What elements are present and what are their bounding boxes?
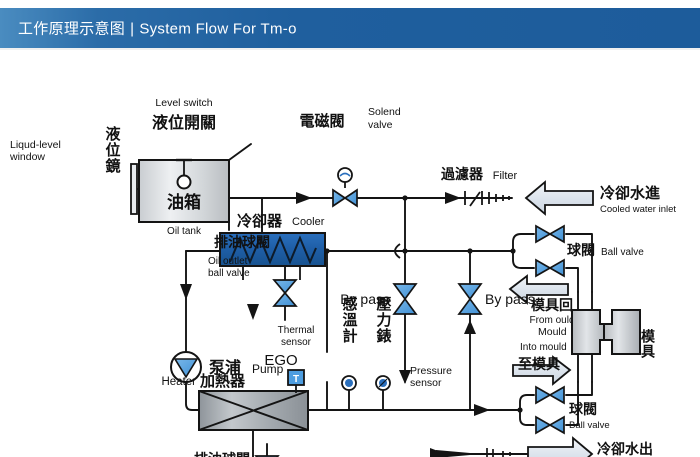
valve-triangle-icon xyxy=(274,280,296,293)
valve-triangle-icon xyxy=(274,293,296,306)
flow-arrow-icon xyxy=(445,192,461,204)
valve-triangle-icon xyxy=(550,226,564,242)
ball-valve-bottom-upper xyxy=(536,387,564,403)
bypass-valve-right xyxy=(459,284,481,314)
bypass-valve-left xyxy=(394,284,416,314)
junction-dot xyxy=(510,248,515,253)
pipe-bv-top-loop xyxy=(513,234,534,251)
ego-thermostat: T xyxy=(288,370,304,393)
thermal-sensor-label-en-1: Thermal xyxy=(278,325,315,336)
pipe-bv-bottom-right xyxy=(566,382,592,395)
valve-triangle-icon xyxy=(550,387,564,403)
pressure-sensor-label-en-1: Pressure xyxy=(410,365,452,377)
solenoid-valve-label-en-2: valve xyxy=(368,119,393,131)
thermal-gauge-label-cn: 感溫計 xyxy=(341,295,358,344)
mould-label-en: Mould xyxy=(538,326,567,338)
solenoid-valve xyxy=(333,168,357,206)
solenoid-valve-label-cn: 電磁閥 xyxy=(299,112,344,130)
liquid-level-window-label-en-2: window xyxy=(9,151,45,163)
system-flow-diagram: Level switch 液位開關 油箱 Oil tank Liqud-leve… xyxy=(0,52,700,457)
flow-arrow-icon xyxy=(180,284,192,300)
oil-outlet-valve-upper-label-cn: 排油球閥 xyxy=(214,234,270,250)
flow-arrow-icon xyxy=(296,192,312,204)
ego-label: EGO xyxy=(264,352,297,369)
cooled-water-inlet-arrow xyxy=(526,182,593,214)
liquid-level-window-label-en-1: Liqud-level xyxy=(10,139,61,151)
valve-triangle-icon xyxy=(550,417,564,433)
oil-outlet-valve-upper-label-en-2: ball valve xyxy=(208,268,250,279)
liquid-level-window-glass xyxy=(131,164,137,214)
into-mould-label-en: Into mould xyxy=(520,342,567,353)
from-mould-label-en: From ould xyxy=(529,315,574,326)
heater-label-cn: 加熱器 xyxy=(199,372,246,390)
pressure-gauge xyxy=(376,376,390,390)
mould-left-half-icon xyxy=(572,310,608,354)
pipe-bv-bottom-loop2 xyxy=(520,410,534,425)
oil-outlet-valve-upper-label-en-1: Oil outlet xyxy=(208,256,248,267)
flow-arrow-icon xyxy=(247,304,259,320)
cooler-label-cn: 冷卻器 xyxy=(237,212,283,230)
oil-outlet-ball-valve-upper xyxy=(274,280,296,306)
taper-icon xyxy=(436,450,470,457)
from-mould-label-cn: 模具回 xyxy=(531,297,573,313)
valve-triangle-icon xyxy=(536,226,550,242)
junction-dot xyxy=(402,248,407,253)
valve-triangle-icon xyxy=(345,190,357,206)
valve-triangle-icon xyxy=(536,260,550,276)
valve-triangle-icon xyxy=(394,299,416,314)
cooled-water-outlet-label-cn: 冷卻水出 xyxy=(597,441,653,457)
level-switch-label-en: Level switch xyxy=(155,97,212,109)
solenoid-valve-label-en-1: Solend xyxy=(368,106,401,118)
level-switch-label-cn: 液位開關 xyxy=(152,113,216,132)
flow-arrow-icon xyxy=(474,404,490,416)
mould-right-half-icon xyxy=(604,310,640,354)
cooler-label-en: Cooler xyxy=(292,216,325,228)
ball-valve-top-label-en: Ball valve xyxy=(601,247,644,258)
thermal-gauge xyxy=(342,376,356,390)
ball-valve-top-lower xyxy=(536,260,564,276)
pipe-heater-drain xyxy=(253,430,430,457)
junction-dot xyxy=(517,407,522,412)
pipe-heater-out xyxy=(308,382,327,410)
ball-valve-bottom-lower xyxy=(536,417,564,433)
thermal-sensor-label-en-2: sensor xyxy=(281,337,312,348)
junction-dot xyxy=(467,248,472,253)
page-title-chinese: 工作原理示意图 xyxy=(18,21,125,38)
valve-triangle-icon xyxy=(333,190,345,206)
mould xyxy=(572,310,640,354)
ego-symbol: T xyxy=(293,374,299,385)
oil-tank xyxy=(131,160,229,222)
page-title-separator: | xyxy=(125,21,139,38)
valve-triangle-icon xyxy=(536,417,550,433)
pipe-bv-bottom-loop xyxy=(520,395,534,410)
oil-outlet-valve-lower-label-cn: 排油球閥 xyxy=(194,451,250,457)
heater-label-en: Heater xyxy=(161,376,196,388)
page-title-english: System Flow For Tm-o xyxy=(139,21,296,38)
valve-triangle-icon xyxy=(394,284,416,299)
pressure-gauge-label-cn: 壓力錶 xyxy=(375,296,393,344)
page-title: 工作原理示意图|System Flow For Tm-o xyxy=(18,18,297,39)
bypass-right-label: By pass xyxy=(485,291,535,307)
oil-tank-label-cn: 油箱 xyxy=(167,192,201,212)
cooled-water-inlet-label-en: Cooled water inlet xyxy=(600,204,676,215)
flow-arrow-icon xyxy=(464,320,476,334)
valve-triangle-icon xyxy=(459,284,481,299)
ball-valve-bottom-label-en: Ball valve xyxy=(569,420,610,431)
valve-triangle-icon xyxy=(550,260,564,276)
ball-valve-top-label-cn: 球閥 xyxy=(567,242,595,258)
heater xyxy=(199,391,308,430)
page-header-bar: 工作原理示意图|System Flow For Tm-o xyxy=(0,8,700,48)
outlet-tapers xyxy=(436,448,510,457)
oil-tank-label-en: Oil tank xyxy=(167,226,202,237)
pressure-sensor-label-en-2: sensor xyxy=(410,377,442,389)
filter-label-en: Filter xyxy=(493,170,518,182)
liquid-level-window-label-cn: 液位鏡 xyxy=(104,125,121,174)
mould-label-cn: 模具 xyxy=(640,328,656,359)
cooled-water-outlet-arrow xyxy=(528,438,592,457)
into-mould-label-cn: 至模具 xyxy=(518,356,560,372)
ball-valve-top-upper xyxy=(536,226,564,242)
ball-valve-bottom-label-cn: 球閥 xyxy=(569,401,597,417)
cooled-water-inlet-label-cn: 冷卻水進 xyxy=(600,184,661,202)
valve-triangle-icon xyxy=(459,299,481,314)
pipe-bv-top-loop2 xyxy=(513,251,534,268)
screenshot-root: 工作原理示意图|System Flow For Tm-o xyxy=(0,0,700,457)
pipe-tank-to-solenoid xyxy=(229,144,251,160)
filter-label-cn: 過濾器 xyxy=(440,166,484,182)
valve-triangle-icon xyxy=(536,387,550,403)
junction-dot xyxy=(402,195,407,200)
